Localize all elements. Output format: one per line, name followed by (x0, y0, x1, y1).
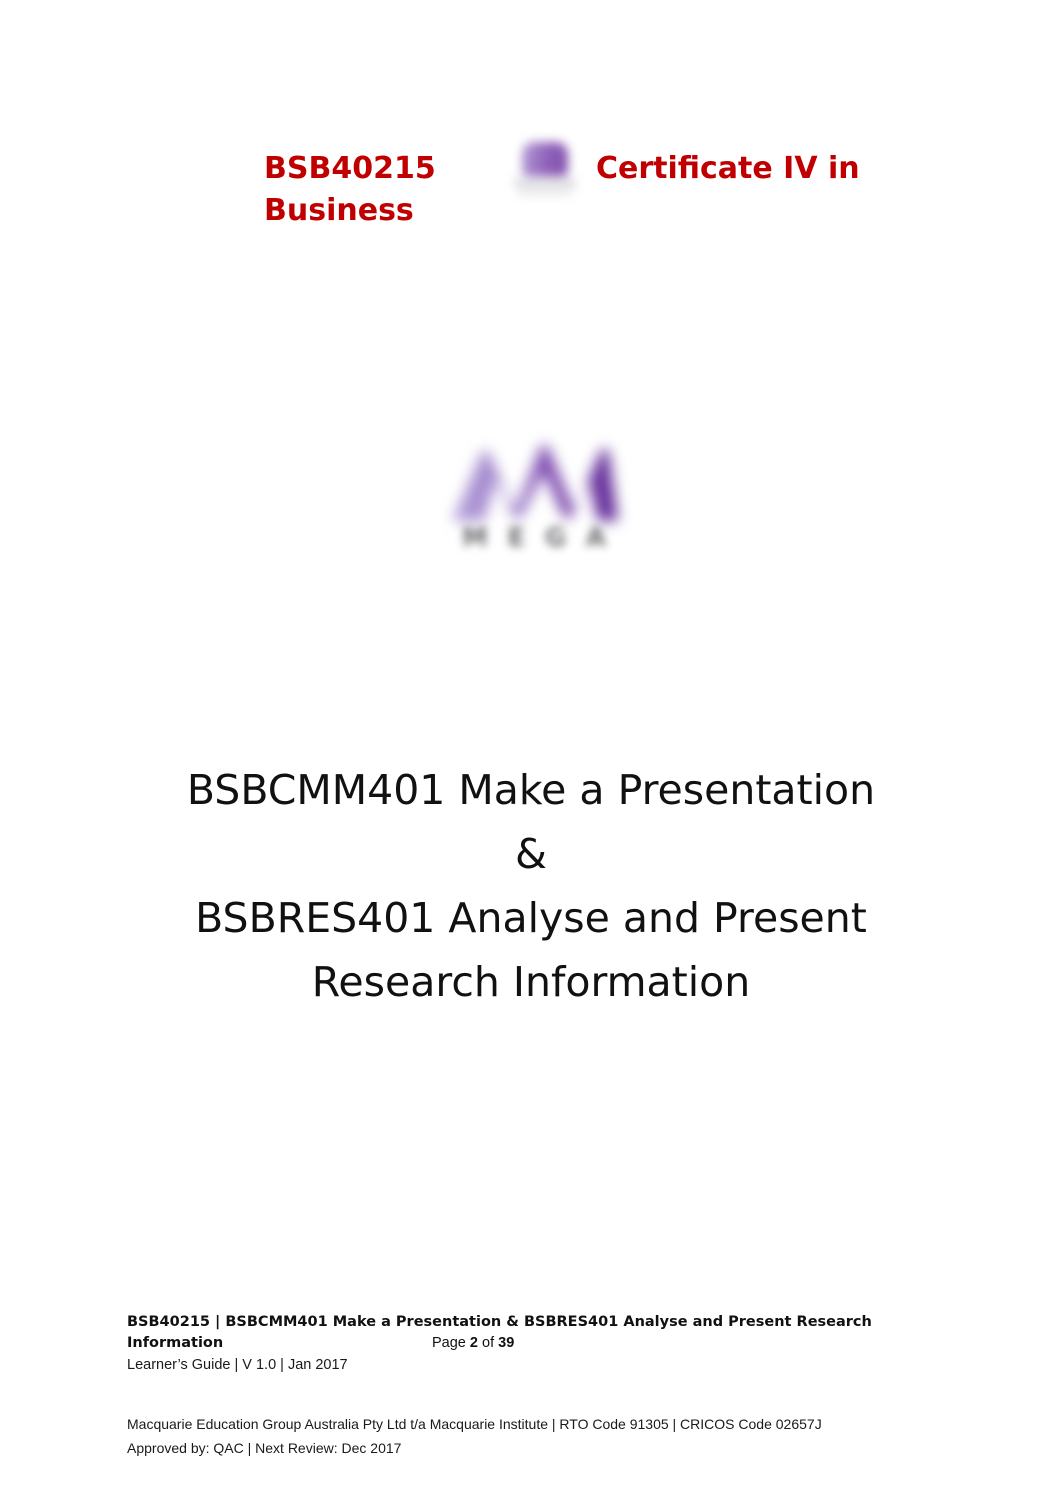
footer-unit-block: BSB40215 | BSBCMM401 Make a Presentation… (127, 1312, 872, 1354)
page-number: 2 (470, 1335, 478, 1351)
qualification-title: Certificate IV in (596, 148, 860, 190)
logo-arch-shape (522, 142, 568, 176)
footer-legal-line-1: Macquarie Education Group Australia Pty … (127, 1412, 927, 1436)
footer-legal-line-2: Approved by: QAC | Next Review: Dec 2017 (127, 1436, 927, 1460)
logo-letter: A (586, 523, 608, 553)
logo-mountain-mark (448, 433, 622, 525)
footer-legal-block: Macquarie Education Group Australia Pty … (127, 1412, 927, 1460)
document-header: BSB40215 Certificate IV in Business (264, 148, 904, 190)
page-title-line-4: Research Information (131, 950, 931, 1014)
qualification-title-second-line: Business (264, 190, 414, 232)
mega-institute-logo-small-icon (502, 130, 588, 204)
logo-bar-shape-secondary (518, 190, 572, 196)
page-number-indicator: Page 2 of 39 (432, 1333, 514, 1354)
page-of-label: of (482, 1335, 494, 1351)
logo-letter: E (508, 523, 528, 553)
page-total: 39 (498, 1335, 514, 1351)
page-label: Page (432, 1335, 466, 1351)
header-first-row: BSB40215 Certificate IV in (264, 148, 904, 190)
page-title-line-2: & (131, 822, 931, 886)
qualification-code: BSB40215 (264, 148, 436, 190)
mega-mountain-logo-icon: M E G A (420, 425, 650, 590)
page-title: BSBCMM401 Make a Presentation & BSBRES40… (131, 758, 931, 1014)
document-page: BSB40215 Certificate IV in Business (0, 0, 1062, 1506)
page-title-line-3: BSBRES401 Analyse and Present (131, 886, 931, 950)
page-footer: BSB40215 | BSBCMM401 Make a Presentation… (127, 1312, 872, 1376)
footer-version-line: Learner’s Guide | V 1.0 | Jan 2017 (127, 1355, 872, 1376)
page-title-line-1: BSBCMM401 Make a Presentation (131, 758, 931, 822)
logo-letter: M (462, 523, 490, 553)
logo-bar-shape (514, 178, 576, 188)
logo-wordmark: M E G A (448, 521, 622, 555)
logo-letter: G (545, 523, 568, 553)
